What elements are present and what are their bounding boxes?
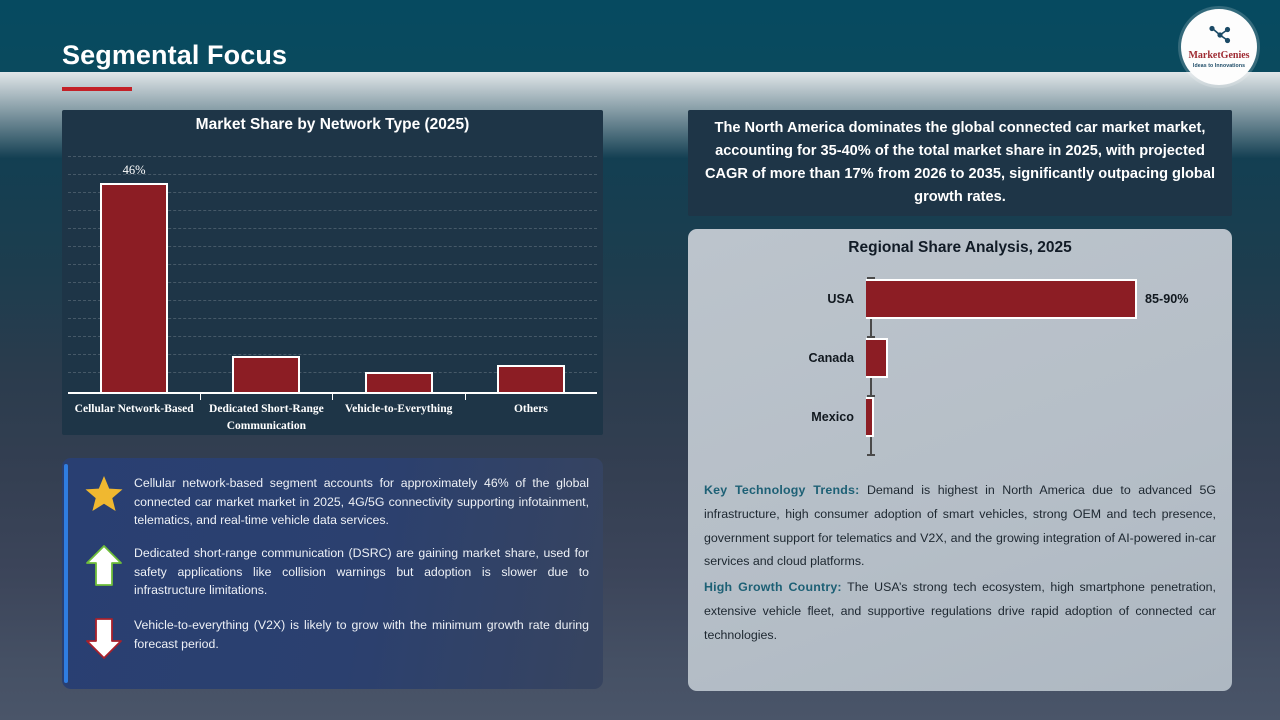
insights-panel: Cellular network-based segment accounts …: [62, 458, 603, 689]
insight-item: Dedicated short-range communication (DSR…: [62, 544, 603, 600]
bar-column: [465, 142, 597, 392]
category-label: Canada: [700, 351, 866, 365]
category-label: Mexico: [700, 410, 866, 424]
axis-tick: [201, 394, 334, 400]
x-axis-label: Vehicle-to-Everything: [333, 401, 465, 434]
insight-text: Cellular network-based segment accounts …: [128, 474, 589, 530]
page-title: Segmental Focus: [62, 40, 287, 71]
x-axis-label: Dedicated Short-Range Communication: [200, 401, 332, 434]
axis-tick: [333, 394, 466, 400]
bar: [866, 338, 888, 378]
network-type-chart-card: Market Share by Network Type (2025) 46% …: [62, 110, 603, 435]
high-growth-country-paragraph: High Growth Country: The USA’s strong te…: [700, 576, 1220, 647]
x-axis-label: Cellular Network-Based: [68, 401, 200, 434]
regional-chart-title: Regional Share Analysis, 2025: [700, 239, 1220, 257]
bar: [232, 356, 300, 392]
bar: [866, 397, 874, 437]
bar: [100, 183, 168, 392]
bar-column: [200, 142, 332, 392]
star-icon: [80, 474, 128, 514]
highlight-box: The North America dominates the global c…: [688, 110, 1232, 216]
highlight-text: The North America dominates the global c…: [698, 117, 1222, 209]
arrow-up-icon: [80, 544, 128, 588]
bar-value-label: 85-90%: [1137, 292, 1188, 306]
axis-tick: [867, 454, 875, 456]
axis-tick: [466, 394, 598, 400]
network-x-axis-labels: Cellular Network-BasedDedicated Short-Ra…: [68, 401, 597, 434]
insight-text: Vehicle-to-everything (V2X) is likely to…: [128, 616, 589, 653]
arrow-down-icon: [80, 616, 128, 660]
title-underline: [62, 87, 132, 91]
logo-name: MarketGenies: [1188, 51, 1249, 61]
key-technology-trends-paragraph: Key Technology Trends: Demand is highest…: [700, 479, 1220, 574]
bar-row: Canada: [700, 338, 1220, 378]
insight-item: Cellular network-based segment accounts …: [62, 474, 603, 530]
regional-share-panel: Regional Share Analysis, 2025 USA85-90%C…: [688, 229, 1232, 691]
logo: MarketGenies Ideas to Innovations: [1181, 9, 1257, 85]
axis-tick: [68, 394, 201, 400]
bar-value-label: 46%: [123, 163, 146, 178]
network-bars-group: 46%: [68, 142, 597, 392]
bar-column: 46%: [68, 142, 200, 392]
bar-column: [333, 142, 465, 392]
category-label: USA: [700, 292, 866, 306]
network-chart-plot: 46%: [62, 142, 603, 392]
logo-tagline: Ideas to Innovations: [1193, 63, 1245, 69]
regional-chart-plot: USA85-90%CanadaMexico: [700, 265, 1220, 465]
network-x-axis: [68, 392, 597, 398]
x-axis-label: Others: [465, 401, 597, 434]
network-chart-title: Market Share by Network Type (2025): [62, 116, 603, 134]
insights-accent-bar: [64, 464, 68, 683]
bar: [497, 365, 565, 392]
bar-row: Mexico: [700, 397, 1220, 437]
bar: [866, 279, 1137, 319]
insight-item: Vehicle-to-everything (V2X) is likely to…: [62, 616, 603, 660]
paragraph-lead: High Growth Country:: [704, 580, 842, 594]
insight-text: Dedicated short-range communication (DSR…: [128, 544, 589, 600]
network-node-icon: [1206, 25, 1232, 50]
bar-row: USA85-90%: [700, 279, 1220, 319]
bar: [365, 372, 433, 392]
paragraph-lead: Key Technology Trends:: [704, 483, 859, 497]
